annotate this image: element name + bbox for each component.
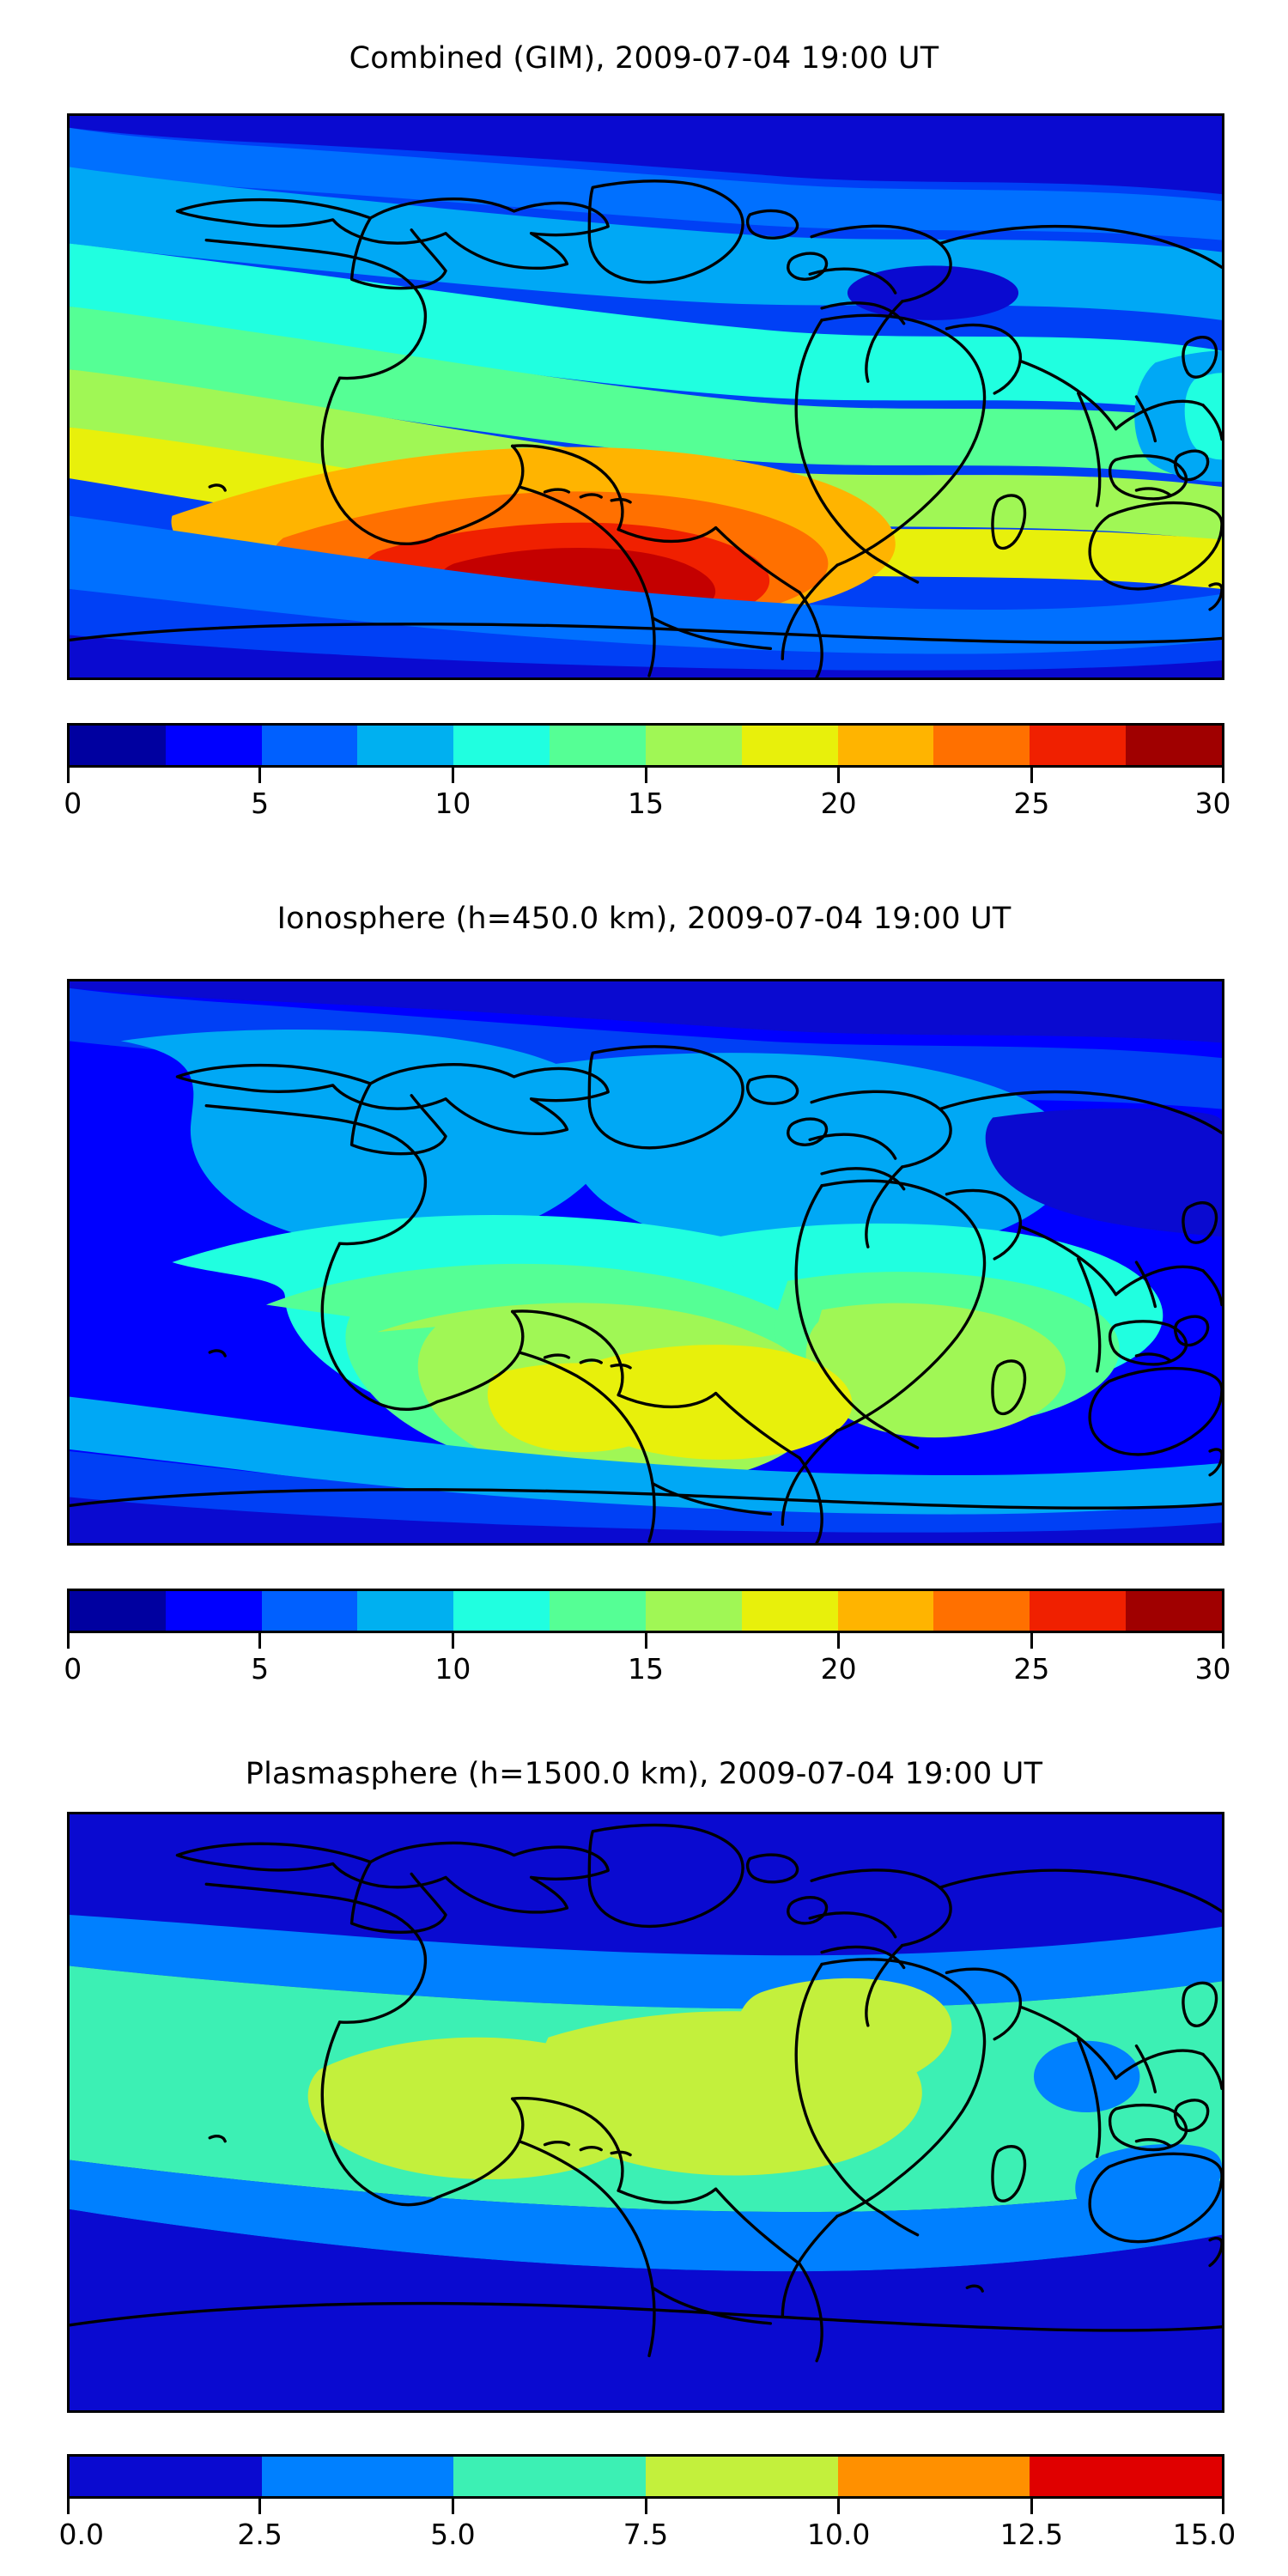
colorbar-segment: [646, 1591, 742, 1631]
colorbar-segment: [166, 1591, 262, 1631]
colorbar-segment: [1030, 726, 1126, 765]
colorbar-tick: [837, 1633, 840, 1649]
colorbar-tick: [452, 1633, 454, 1649]
colorbar-tick-label: 5: [251, 787, 269, 820]
colorbar-tick: [837, 2499, 840, 2514]
colorbar-tick-label: 30: [1195, 787, 1231, 820]
colorbar-tick: [452, 768, 454, 783]
colorbar-tick: [645, 768, 647, 783]
colorbar-segment: [1030, 1591, 1126, 1631]
colorbar-segment: [70, 2457, 262, 2496]
colorbar-gradient-combined: [67, 723, 1224, 768]
colorbar-segment: [646, 726, 742, 765]
figure-root: Combined (GIM), 2009-07-04 19:00 UT: [0, 0, 1288, 2576]
colorbar-segment: [166, 726, 262, 765]
colorbar-tick: [67, 1633, 70, 1649]
map-canvas-ionosphere: [70, 981, 1222, 1543]
colorbar-tick: [1222, 768, 1224, 783]
colorbar-tick-label: 20: [821, 1652, 857, 1686]
colorbar-tick-label: 0: [64, 787, 82, 820]
colorbar-tick-label: 7.5: [623, 2518, 668, 2551]
colorbar-tick: [645, 1633, 647, 1649]
colorbar-tick: [1030, 768, 1033, 783]
panel-title-combined-gim: Combined (GIM), 2009-07-04 19:00 UT: [0, 41, 1288, 76]
colorbar-ticks-plasmasphere: [67, 2499, 1224, 2518]
colorbar-tick: [258, 1633, 261, 1649]
panel-title-plasmasphere: Plasmasphere (h=1500.0 km), 2009-07-04 1…: [0, 1757, 1288, 1791]
colorbar-gradient-ionosphere: [67, 1589, 1224, 1633]
colorbar-tick: [258, 2499, 261, 2514]
colorbar-segment: [838, 2457, 1030, 2496]
colorbar-ticks-combined: [67, 768, 1224, 787]
colorbar-tick-label: 0.0: [59, 2518, 104, 2551]
colorbar-tick: [258, 768, 261, 783]
colorbar-tick-label: 5: [251, 1652, 269, 1686]
colorbar-combined-gim: 051015202530: [67, 723, 1224, 830]
colorbar-segment: [1030, 2457, 1222, 2496]
colorbar-tick-label: 10.0: [807, 2518, 870, 2551]
colorbar-tick-label: 10: [434, 1652, 471, 1686]
colorbar-tick-label: 10: [434, 787, 471, 820]
colorbar-ticks-ionosphere: [67, 1633, 1224, 1652]
colorbar-tick: [1030, 1633, 1033, 1649]
colorbar-tick-label: 2.5: [237, 2518, 282, 2551]
colorbar-segment: [838, 1591, 934, 1631]
colorbar-tick: [645, 2499, 647, 2514]
colorbar-tick-label: 15: [628, 787, 664, 820]
colorbar-tick: [837, 768, 840, 783]
colorbar-segment: [742, 1591, 838, 1631]
colorbar-segment: [1126, 726, 1222, 765]
colorbar-tick: [67, 768, 70, 783]
colorbar-tick-label: 20: [821, 787, 857, 820]
colorbar-segment: [453, 2457, 646, 2496]
colorbar-segment: [933, 726, 1030, 765]
colorbar-gradient-plasmasphere: [67, 2454, 1224, 2499]
map-plasmasphere: [67, 1812, 1224, 2413]
colorbar-tick: [67, 2499, 70, 2514]
colorbar-tick-label: 0: [64, 1652, 82, 1686]
colorbar-segment: [262, 726, 358, 765]
colorbar-tick-label: 15: [628, 1652, 664, 1686]
colorbar-segment: [453, 1591, 550, 1631]
colorbar-segment: [838, 726, 934, 765]
colorbar-tick-label: 12.5: [1000, 2518, 1063, 2551]
colorbar-segment: [70, 1591, 166, 1631]
colorbar-tick: [1222, 1633, 1224, 1649]
colorbar-tick: [1222, 2499, 1224, 2514]
panel-ionosphere: Ionosphere (h=450.0 km), 2009-07-04 19:0…: [0, 859, 1288, 1735]
colorbar-tick-label: 30: [1195, 1652, 1231, 1686]
colorbar-segment: [357, 1591, 453, 1631]
map-ionosphere: [67, 979, 1224, 1546]
colorbar-tick-labels-plasmasphere: 0.02.55.07.510.012.515.0: [67, 2518, 1224, 2555]
colorbar-segment: [646, 2457, 838, 2496]
colorbar-segment: [357, 726, 453, 765]
colorbar-segment: [550, 1591, 646, 1631]
colorbar-tick-labels-combined: 051015202530: [67, 787, 1224, 824]
colorbar-tick-label: 15.0: [1173, 2518, 1236, 2551]
colorbar-segment: [550, 726, 646, 765]
colorbar-segment: [933, 1591, 1030, 1631]
colorbar-tick: [1030, 2499, 1033, 2514]
colorbar-ionosphere: 051015202530: [67, 1589, 1224, 1696]
colorbar-segment: [70, 726, 166, 765]
map-combined-gim: [67, 113, 1224, 680]
colorbar-tick-label: 25: [1013, 1652, 1049, 1686]
panel-combined-gim: Combined (GIM), 2009-07-04 19:00 UT: [0, 0, 1288, 859]
map-canvas-plasmasphere: [70, 1814, 1222, 2410]
colorbar-tick-label: 5.0: [430, 2518, 475, 2551]
map-canvas-combined-gim: [70, 116, 1222, 677]
colorbar-tick: [452, 2499, 454, 2514]
colorbar-segment: [453, 726, 550, 765]
panel-title-ionosphere: Ionosphere (h=450.0 km), 2009-07-04 19:0…: [0, 902, 1288, 936]
colorbar-tick-label: 25: [1013, 787, 1049, 820]
colorbar-segment: [1126, 1591, 1222, 1631]
colorbar-segment: [262, 1591, 358, 1631]
panel-plasmasphere: Plasmasphere (h=1500.0 km), 2009-07-04 1…: [0, 1735, 1288, 2576]
colorbar-plasmasphere: 0.02.55.07.510.012.515.0: [67, 2454, 1224, 2561]
colorbar-tick-labels-ionosphere: 051015202530: [67, 1652, 1224, 1690]
colorbar-segment: [262, 2457, 454, 2496]
colorbar-segment: [742, 726, 838, 765]
